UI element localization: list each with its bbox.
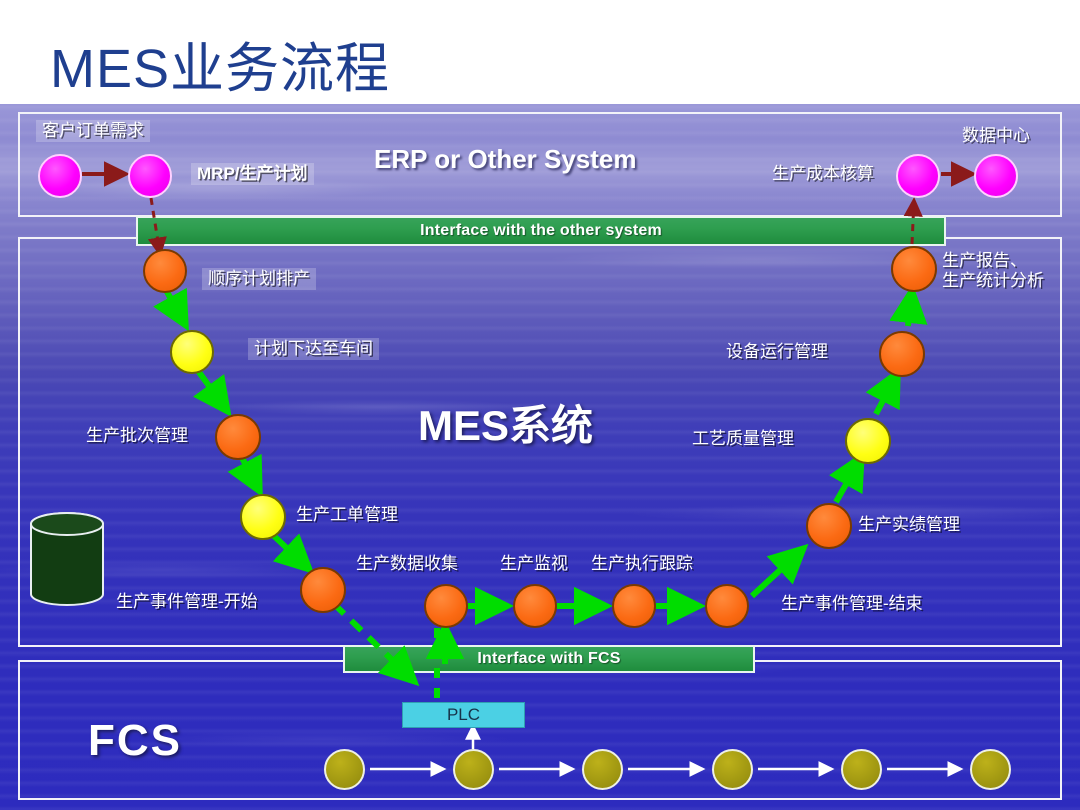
- batch-management-node[interactable]: [215, 414, 261, 460]
- actual-performance-label: 生产实绩管理: [858, 515, 960, 535]
- erp-heading: ERP or Other System: [374, 144, 637, 175]
- event-start-label: 生产事件管理-开始: [116, 592, 258, 612]
- production-monitor-label: 生产监视: [500, 554, 568, 574]
- plan-to-workshop-label: 计划下达至车间: [248, 338, 379, 360]
- sequence-plan-node[interactable]: [143, 249, 187, 293]
- fcs-node-2[interactable]: [453, 749, 494, 790]
- data-collection-label: 生产数据收集: [356, 554, 458, 574]
- sequence-plan-label: 顺序计划排产: [202, 268, 316, 290]
- event-end-label: 生产事件管理-结束: [781, 594, 923, 614]
- erp-interface-banner-label: Interface with the other system: [420, 222, 662, 240]
- plc-box[interactable]: PLC: [402, 702, 525, 728]
- data-center-node[interactable]: [974, 154, 1018, 198]
- batch-management-label: 生产批次管理: [86, 426, 188, 446]
- fcs-node-3[interactable]: [582, 749, 623, 790]
- production-report-node[interactable]: [891, 246, 937, 292]
- erp-interface-banner: Interface with the other system: [136, 216, 946, 246]
- database-cylinder-icon: [28, 510, 106, 608]
- production-monitor-node[interactable]: [513, 584, 557, 628]
- slide-root: MES业务流程 ERP or Other System MES系统 FCS In…: [0, 0, 1080, 810]
- customer-order-node[interactable]: [38, 154, 82, 198]
- fcs-node-5[interactable]: [841, 749, 882, 790]
- process-quality-node[interactable]: [845, 418, 891, 464]
- execution-tracking-label: 生产执行跟踪: [591, 554, 693, 574]
- customer-order-label: 客户订单需求: [36, 120, 150, 142]
- mrp-plan-node[interactable]: [128, 154, 172, 198]
- fcs-heading: FCS: [88, 716, 182, 766]
- process-quality-label: 工艺质量管理: [692, 429, 794, 449]
- diagram-canvas: ERP or Other System MES系统 FCS Interface …: [0, 104, 1080, 810]
- actual-performance-node[interactable]: [806, 503, 852, 549]
- event-start-node[interactable]: [300, 567, 346, 613]
- work-order-node[interactable]: [240, 494, 286, 540]
- plc-label: PLC: [447, 705, 480, 725]
- page-title: MES业务流程: [50, 24, 390, 103]
- data-collection-node[interactable]: [424, 584, 468, 628]
- cost-accounting-label: 生产成本核算: [772, 164, 874, 184]
- work-order-label: 生产工单管理: [296, 505, 398, 525]
- execution-tracking-node[interactable]: [612, 584, 656, 628]
- cost-accounting-node[interactable]: [896, 154, 940, 198]
- fcs-node-6[interactable]: [970, 749, 1011, 790]
- equipment-operation-node[interactable]: [879, 331, 925, 377]
- event-end-node[interactable]: [705, 584, 749, 628]
- production-report-label: 生产报告、 生产统计分析: [942, 251, 1044, 291]
- mrp-plan-label: MRP/生产计划: [191, 163, 314, 185]
- fcs-interface-banner: Interface with FCS: [343, 645, 755, 673]
- fcs-node-4[interactable]: [712, 749, 753, 790]
- plan-to-workshop-node[interactable]: [170, 330, 214, 374]
- mes-heading: MES系统: [418, 392, 593, 453]
- equipment-operation-label: 设备运行管理: [726, 342, 828, 362]
- data-center-label: 数据中心: [962, 126, 1030, 146]
- fcs-interface-banner-label: Interface with FCS: [477, 650, 620, 668]
- fcs-node-1[interactable]: [324, 749, 365, 790]
